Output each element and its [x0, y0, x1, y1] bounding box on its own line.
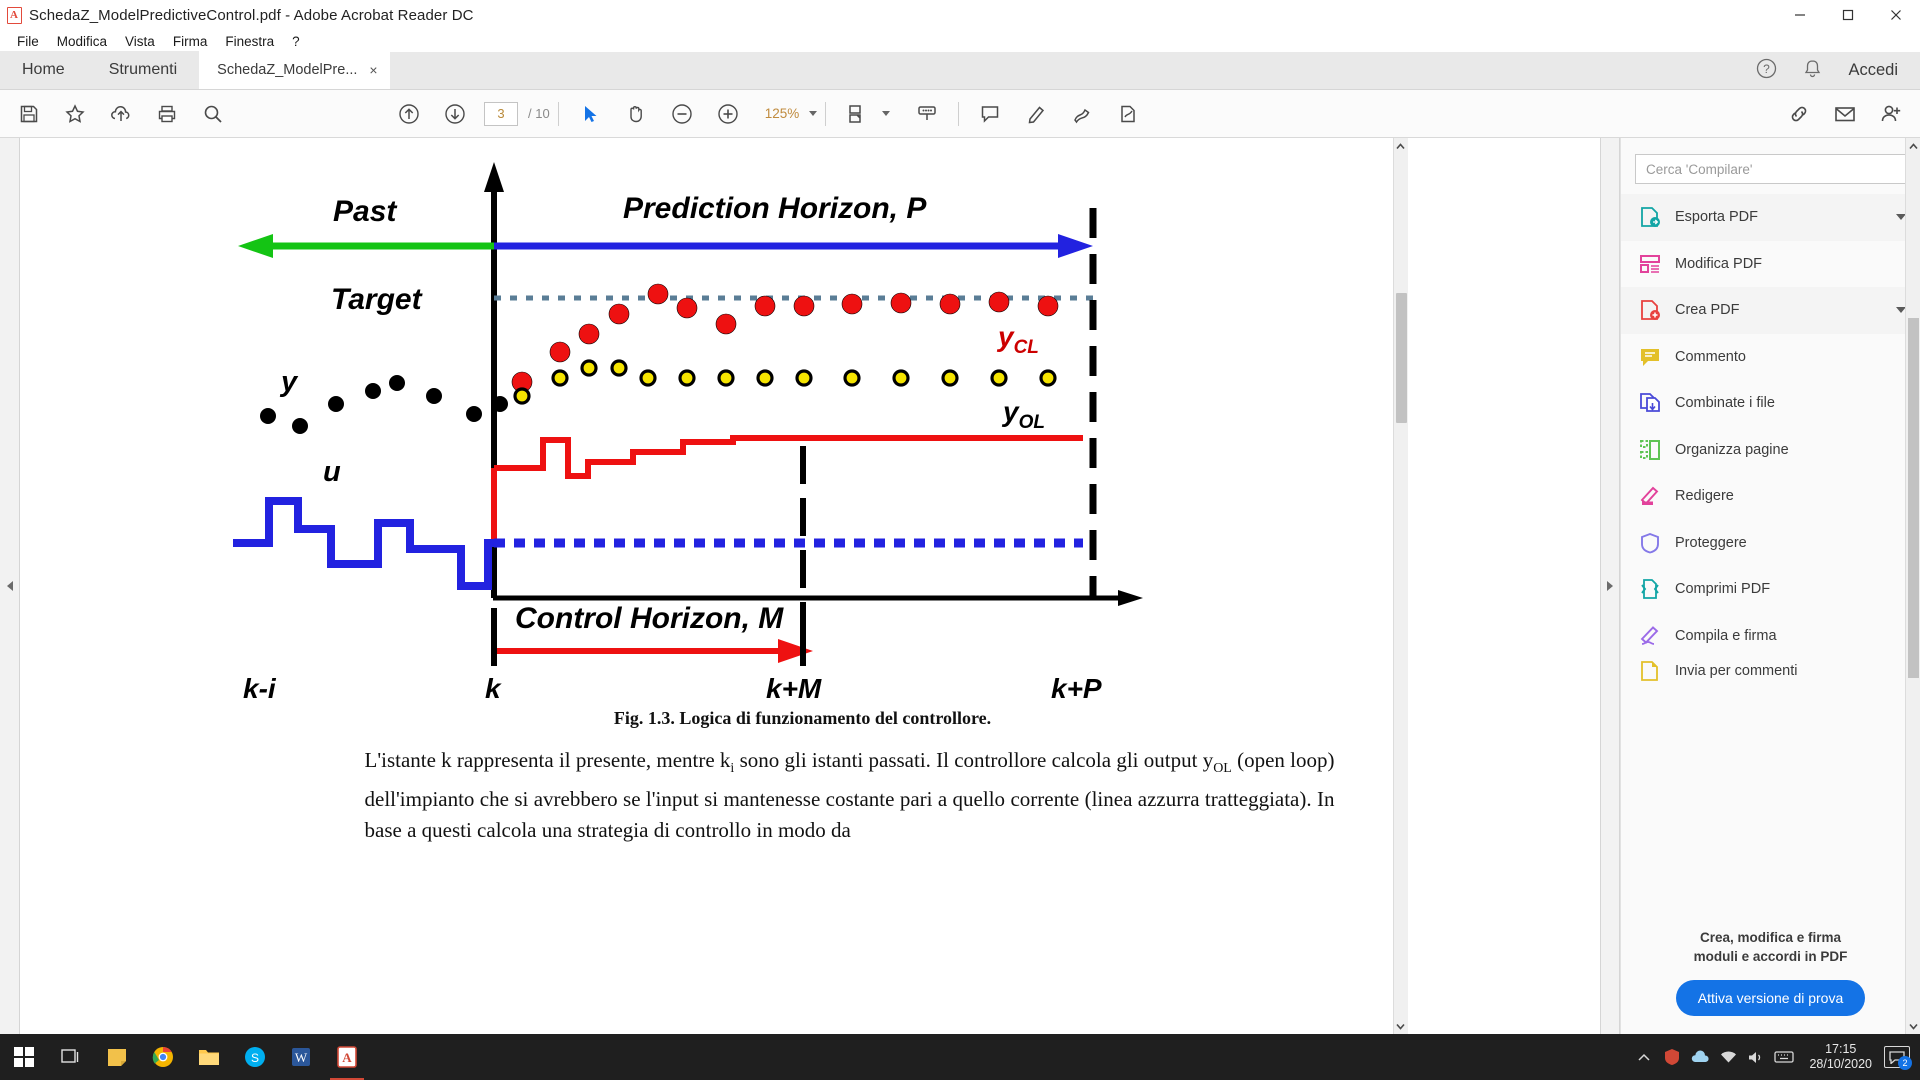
redact-icon	[1639, 485, 1661, 507]
tab-strip: Home Strumenti SchedaZ_ModelPre... × ? A…	[0, 52, 1920, 90]
combine-files-icon	[1639, 392, 1661, 414]
clock-date: 28/10/2020	[1809, 1057, 1872, 1072]
onedrive-icon[interactable]	[1687, 1034, 1713, 1080]
axis-label-k-plus-m: k+M	[766, 673, 822, 704]
create-pdf-icon	[1639, 299, 1661, 321]
windows-start-icon[interactable]	[0, 1034, 48, 1080]
draw-icon[interactable]	[1059, 91, 1105, 137]
mpc-diagram-svg: Past Prediction Horizon, P Target y u yC…	[213, 146, 1393, 706]
maximize-icon[interactable]	[1824, 0, 1872, 30]
tool-item-proteggere[interactable]: Proteggere	[1621, 520, 1920, 567]
export-pdf-icon	[1639, 206, 1661, 228]
tool-item-invia-per-commenti[interactable]: Invia per commenti	[1621, 659, 1920, 683]
tool-label: Compila e firma	[1675, 628, 1906, 644]
tool-item-commento[interactable]: Commento	[1621, 334, 1920, 381]
tools-search-wrap: Cerca 'Compilare'	[1621, 138, 1920, 192]
main-toolbar: 3 / 10 125%	[0, 90, 1920, 138]
pdf-page: Past Prediction Horizon, P Target y u yC…	[213, 138, 1393, 1034]
tool-label: Commento	[1675, 349, 1906, 365]
network-icon[interactable]	[1715, 1034, 1741, 1080]
touch-keyboard-icon[interactable]	[1771, 1034, 1797, 1080]
menu-item-vista[interactable]: Vista	[116, 32, 164, 51]
promo-section: Crea, modifica e firma moduli e accordi …	[1621, 918, 1920, 1034]
scroll-up-icon[interactable]	[1906, 138, 1920, 154]
label-control-horizon: Control Horizon, M	[515, 602, 784, 635]
svg-text:?: ?	[1764, 62, 1771, 76]
right-pane-toggle[interactable]	[1600, 138, 1620, 1034]
compress-pdf-icon	[1639, 578, 1661, 600]
paragraph-part-1: L'istante k rappresenta il presente, men…	[365, 748, 731, 772]
paragraph-subscript-ol: OL	[1213, 761, 1232, 776]
tool-label: Invia per commenti	[1675, 663, 1906, 679]
close-icon[interactable]: ×	[369, 63, 377, 77]
notification-center-icon[interactable]: 2	[1884, 1046, 1910, 1068]
tool-item-organizza-pagine[interactable]: Organizza pagine	[1621, 427, 1920, 474]
document-viewer[interactable]: Past Prediction Horizon, P Target y u yC…	[20, 138, 1600, 1034]
tab-home[interactable]: Home	[0, 51, 87, 89]
toolbar-right-group	[1776, 91, 1914, 137]
search-input[interactable]: Cerca 'Compilare'	[1635, 154, 1906, 184]
volume-icon[interactable]	[1743, 1034, 1769, 1080]
tab-strumenti[interactable]: Strumenti	[87, 51, 199, 89]
toolbar-divider	[558, 102, 559, 126]
paragraph-part-2: y	[1203, 748, 1214, 772]
tab-document-label: SchedaZ_ModelPre...	[217, 62, 357, 78]
tool-item-compila-e-firma[interactable]: Compila e firma	[1621, 613, 1920, 660]
zoom-in-icon[interactable]	[705, 91, 751, 137]
toolbar-divider	[958, 102, 959, 126]
document-scrollbar[interactable]	[1393, 138, 1408, 1034]
label-target: Target	[331, 283, 424, 316]
taskbar-item-acrobat-icon[interactable]: A	[324, 1034, 370, 1080]
menu-item-firma[interactable]: Firma	[164, 32, 217, 51]
tool-item-comprimi-pdf[interactable]: Comprimi PDF	[1621, 566, 1920, 613]
acrobat-reader-window: SchedaZ_ModelPredictiveControl.pdf - Ado…	[0, 0, 1920, 1080]
promo-line-2: moduli e accordi in PDF	[1641, 947, 1900, 966]
mpc-figure: Past Prediction Horizon, P Target y u yC…	[213, 146, 1393, 706]
windows-taskbar: S W A	[0, 1034, 1920, 1080]
zoom-out-icon[interactable]	[659, 91, 705, 137]
window-title: SchedaZ_ModelPredictiveControl.pdf - Ado…	[29, 7, 474, 24]
show-hidden-icons-icon[interactable]	[1631, 1034, 1657, 1080]
axis-label-k-plus-p: k+P	[1051, 673, 1102, 704]
acrobat-app-icon	[7, 7, 22, 24]
label-prediction-horizon: Prediction Horizon, P	[623, 192, 927, 225]
tool-label: Combinate i file	[1675, 395, 1906, 411]
axis-label-k: k	[485, 673, 502, 704]
scroll-down-icon[interactable]	[1393, 1018, 1408, 1034]
toolbar-divider	[825, 102, 826, 126]
notification-count-badge: 2	[1898, 1056, 1912, 1070]
add-person-icon[interactable]	[1868, 91, 1914, 137]
svg-text:A: A	[342, 1050, 352, 1065]
taskbar-item-file-explorer-icon[interactable]	[186, 1034, 232, 1080]
chevron-left-icon	[1607, 581, 1613, 591]
menu-item-help[interactable]: ?	[283, 32, 309, 51]
tab-document[interactable]: SchedaZ_ModelPre... ×	[199, 51, 389, 89]
taskbar-clock[interactable]: 17:15 28/10/2020	[1799, 1042, 1882, 1072]
help-icon[interactable]: ?	[1756, 58, 1777, 82]
tool-label: Esporta PDF	[1675, 209, 1882, 225]
menu-item-file[interactable]: File	[8, 32, 48, 51]
chevron-right-icon	[7, 581, 13, 591]
tool-label: Redigere	[1675, 488, 1906, 504]
title-bar: SchedaZ_ModelPredictiveControl.pdf - Ado…	[0, 0, 1920, 30]
tool-item-combinate-i-file[interactable]: Combinate i file	[1621, 380, 1920, 427]
taskbar-item-chrome-icon[interactable]	[140, 1034, 186, 1080]
system-tray: 17:15 28/10/2020 2	[1631, 1034, 1920, 1080]
page-number-input[interactable]: 3	[484, 102, 518, 126]
tool-item-crea-pdf[interactable]: Crea PDF	[1621, 287, 1920, 334]
shield-protect-icon	[1639, 532, 1661, 554]
tool-item-modifica-pdf[interactable]: Modifica PDF	[1621, 241, 1920, 288]
hand-pan-icon[interactable]	[613, 91, 659, 137]
scroll-up-icon[interactable]	[1393, 138, 1408, 154]
close-icon[interactable]	[1872, 0, 1920, 30]
edit-pdf-icon	[1639, 253, 1661, 275]
tool-label: Comprimi PDF	[1675, 581, 1906, 597]
comment-icon	[1639, 346, 1661, 368]
print-icon[interactable]	[144, 91, 190, 137]
tool-label: Modifica PDF	[1675, 256, 1906, 272]
taskbar-item-word-icon[interactable]: W	[278, 1034, 324, 1080]
arrow-up-circle-icon[interactable]	[386, 91, 432, 137]
axis-label-k-minus-i: k-i	[243, 673, 277, 704]
left-pane-toggle[interactable]	[0, 138, 20, 1034]
fill-sign-icon	[1639, 625, 1661, 647]
taskbar-item-skype-icon[interactable]: S	[232, 1034, 278, 1080]
menu-item-finestra[interactable]: Finestra	[216, 32, 283, 51]
scroll-down-icon[interactable]	[1906, 1018, 1920, 1034]
content-area: Past Prediction Horizon, P Target y u yC…	[0, 138, 1920, 1034]
account-signin-button[interactable]: Accedi	[1848, 61, 1898, 80]
tools-list: Esporta PDF Modifica PDF Crea PDF	[1621, 192, 1920, 918]
search-icon[interactable]	[190, 91, 236, 137]
chevron-down-icon[interactable]	[882, 111, 890, 116]
notification-bell-icon[interactable]	[1803, 59, 1822, 82]
tool-label: Proteggere	[1675, 535, 1906, 551]
label-y: y	[279, 366, 299, 398]
tools-panel: Cerca 'Compilare' Esporta PDF Modifica P…	[1620, 138, 1920, 1034]
comment-icon[interactable]	[967, 91, 1013, 137]
share-link-icon[interactable]	[1776, 91, 1822, 137]
add-bookmark-icon[interactable]	[52, 91, 98, 137]
highlight-icon[interactable]	[1013, 91, 1059, 137]
chevron-down-icon[interactable]	[809, 111, 817, 116]
svg-text:W: W	[295, 1050, 308, 1065]
scrollbar-thumb[interactable]	[1396, 293, 1407, 423]
paragraph-part-1-rest: sono gli istanti passati. Il controllore…	[734, 748, 1197, 772]
tool-item-esporta-pdf[interactable]: Esporta PDF	[1621, 194, 1920, 241]
window-controls	[1776, 0, 1920, 30]
label-yol: yOL	[1001, 396, 1045, 433]
antivirus-icon[interactable]	[1659, 1034, 1685, 1080]
zoom-level-label[interactable]: 125%	[765, 106, 800, 121]
menu-item-modifica[interactable]: Modifica	[48, 32, 116, 51]
label-ycl: yCL	[996, 321, 1039, 358]
taskbar-item-sticky-notes-icon[interactable]	[94, 1034, 140, 1080]
minimize-icon[interactable]	[1776, 0, 1824, 30]
label-past: Past	[333, 195, 398, 228]
promo-line-1: Crea, modifica e firma	[1641, 928, 1900, 947]
figure-caption: Fig. 1.3. Logica di funzionamento del co…	[213, 708, 1393, 729]
send-for-comments-icon	[1639, 660, 1661, 682]
tool-label: Organizza pagine	[1675, 442, 1906, 458]
tool-label: Crea PDF	[1675, 302, 1882, 318]
tools-panel-scrollbar[interactable]	[1905, 138, 1920, 1034]
task-view-icon[interactable]	[48, 1034, 94, 1080]
read-mode-icon[interactable]	[904, 91, 950, 137]
arrow-down-circle-icon[interactable]	[432, 91, 478, 137]
scrollbar-thumb[interactable]	[1908, 318, 1919, 678]
fit-page-icon[interactable]	[834, 91, 880, 137]
svg-text:S: S	[251, 1051, 259, 1065]
email-icon[interactable]	[1822, 91, 1868, 137]
menu-bar: File Modifica Vista Firma Finestra ?	[0, 30, 1920, 52]
organize-pages-icon	[1639, 439, 1661, 461]
upload-cloud-icon[interactable]	[98, 91, 144, 137]
page-total-label: / 10	[528, 106, 550, 121]
activate-trial-button[interactable]: Attiva versione di prova	[1676, 980, 1866, 1016]
tool-item-redigere[interactable]: Redigere	[1621, 473, 1920, 520]
cursor-select-icon[interactable]	[567, 91, 613, 137]
label-u: u	[323, 456, 341, 488]
clock-time: 17:15	[1809, 1042, 1872, 1057]
fill-sign-icon[interactable]	[1105, 91, 1151, 137]
body-paragraph: L'istante k rappresenta il presente, men…	[365, 745, 1335, 846]
save-icon[interactable]	[6, 91, 52, 137]
